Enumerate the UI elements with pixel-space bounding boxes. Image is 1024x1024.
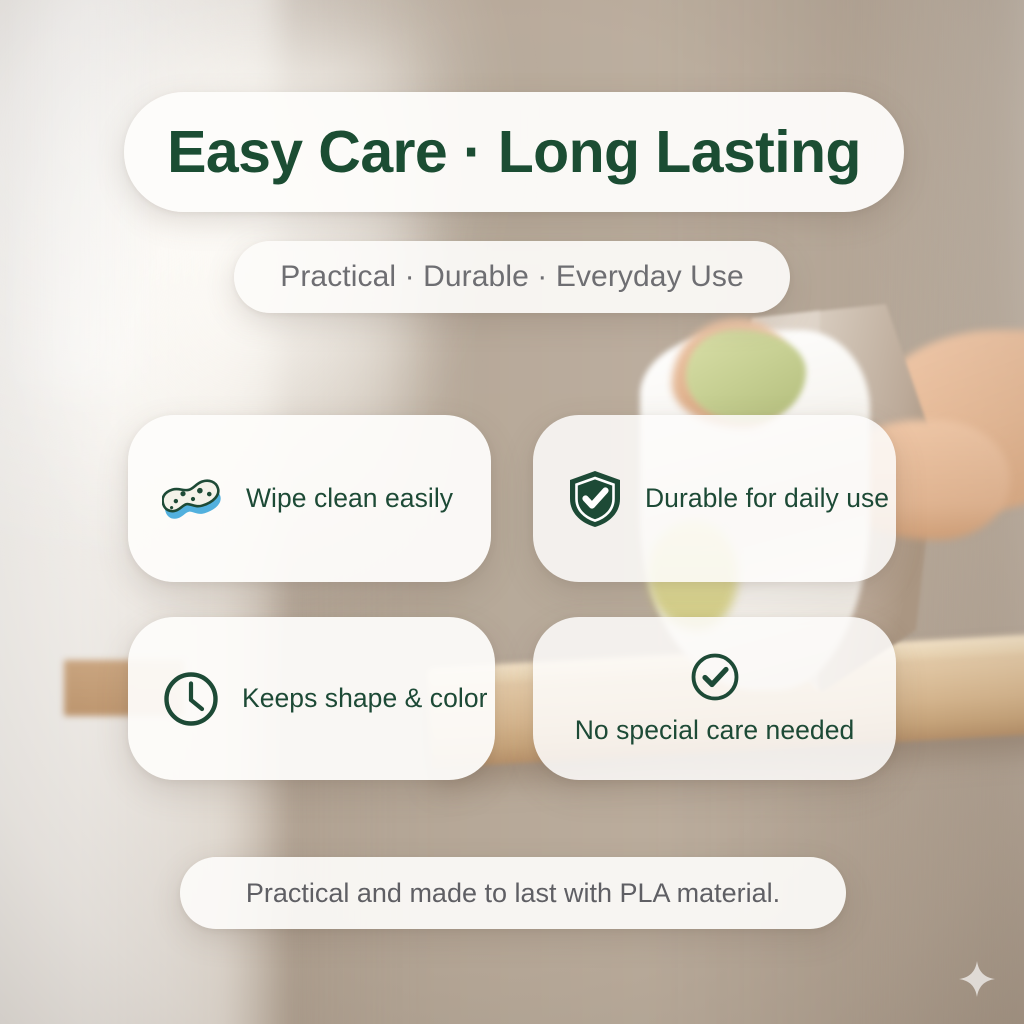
feature-card-no-special-care: No special care needed (533, 617, 896, 780)
feature-label-keeps-shape: Keeps shape & color (242, 683, 488, 714)
footer-pill: Practical and made to last with PLA mate… (180, 857, 846, 929)
page-subtitle: Practical · Durable · Everyday Use (280, 260, 744, 294)
check-circle-icon (689, 651, 741, 703)
feature-label-durable: Durable for daily use (645, 483, 889, 514)
feature-label-no-special-care: No special care needed (575, 715, 855, 746)
poster-canvas: Easy Care · Long Lasting Practical · Dur… (0, 0, 1024, 1024)
feature-card-keeps-shape: Keeps shape & color (128, 617, 495, 780)
subtitle-pill: Practical · Durable · Everyday Use (234, 241, 790, 313)
footer-text: Practical and made to last with PLA mate… (246, 878, 780, 909)
clock-icon (162, 670, 220, 728)
feature-card-durable: Durable for daily use (533, 415, 896, 582)
sponge-icon (162, 474, 224, 524)
title-pill: Easy Care · Long Lasting (124, 92, 904, 212)
feature-card-wipe-clean: Wipe clean easily (128, 415, 491, 582)
page-title: Easy Care · Long Lasting (167, 123, 861, 182)
shield-check-icon (567, 469, 623, 529)
feature-label-wipe-clean: Wipe clean easily (246, 483, 453, 514)
content-overlay: Easy Care · Long Lasting Practical · Dur… (0, 0, 1024, 1024)
sparkle-icon (958, 960, 996, 998)
